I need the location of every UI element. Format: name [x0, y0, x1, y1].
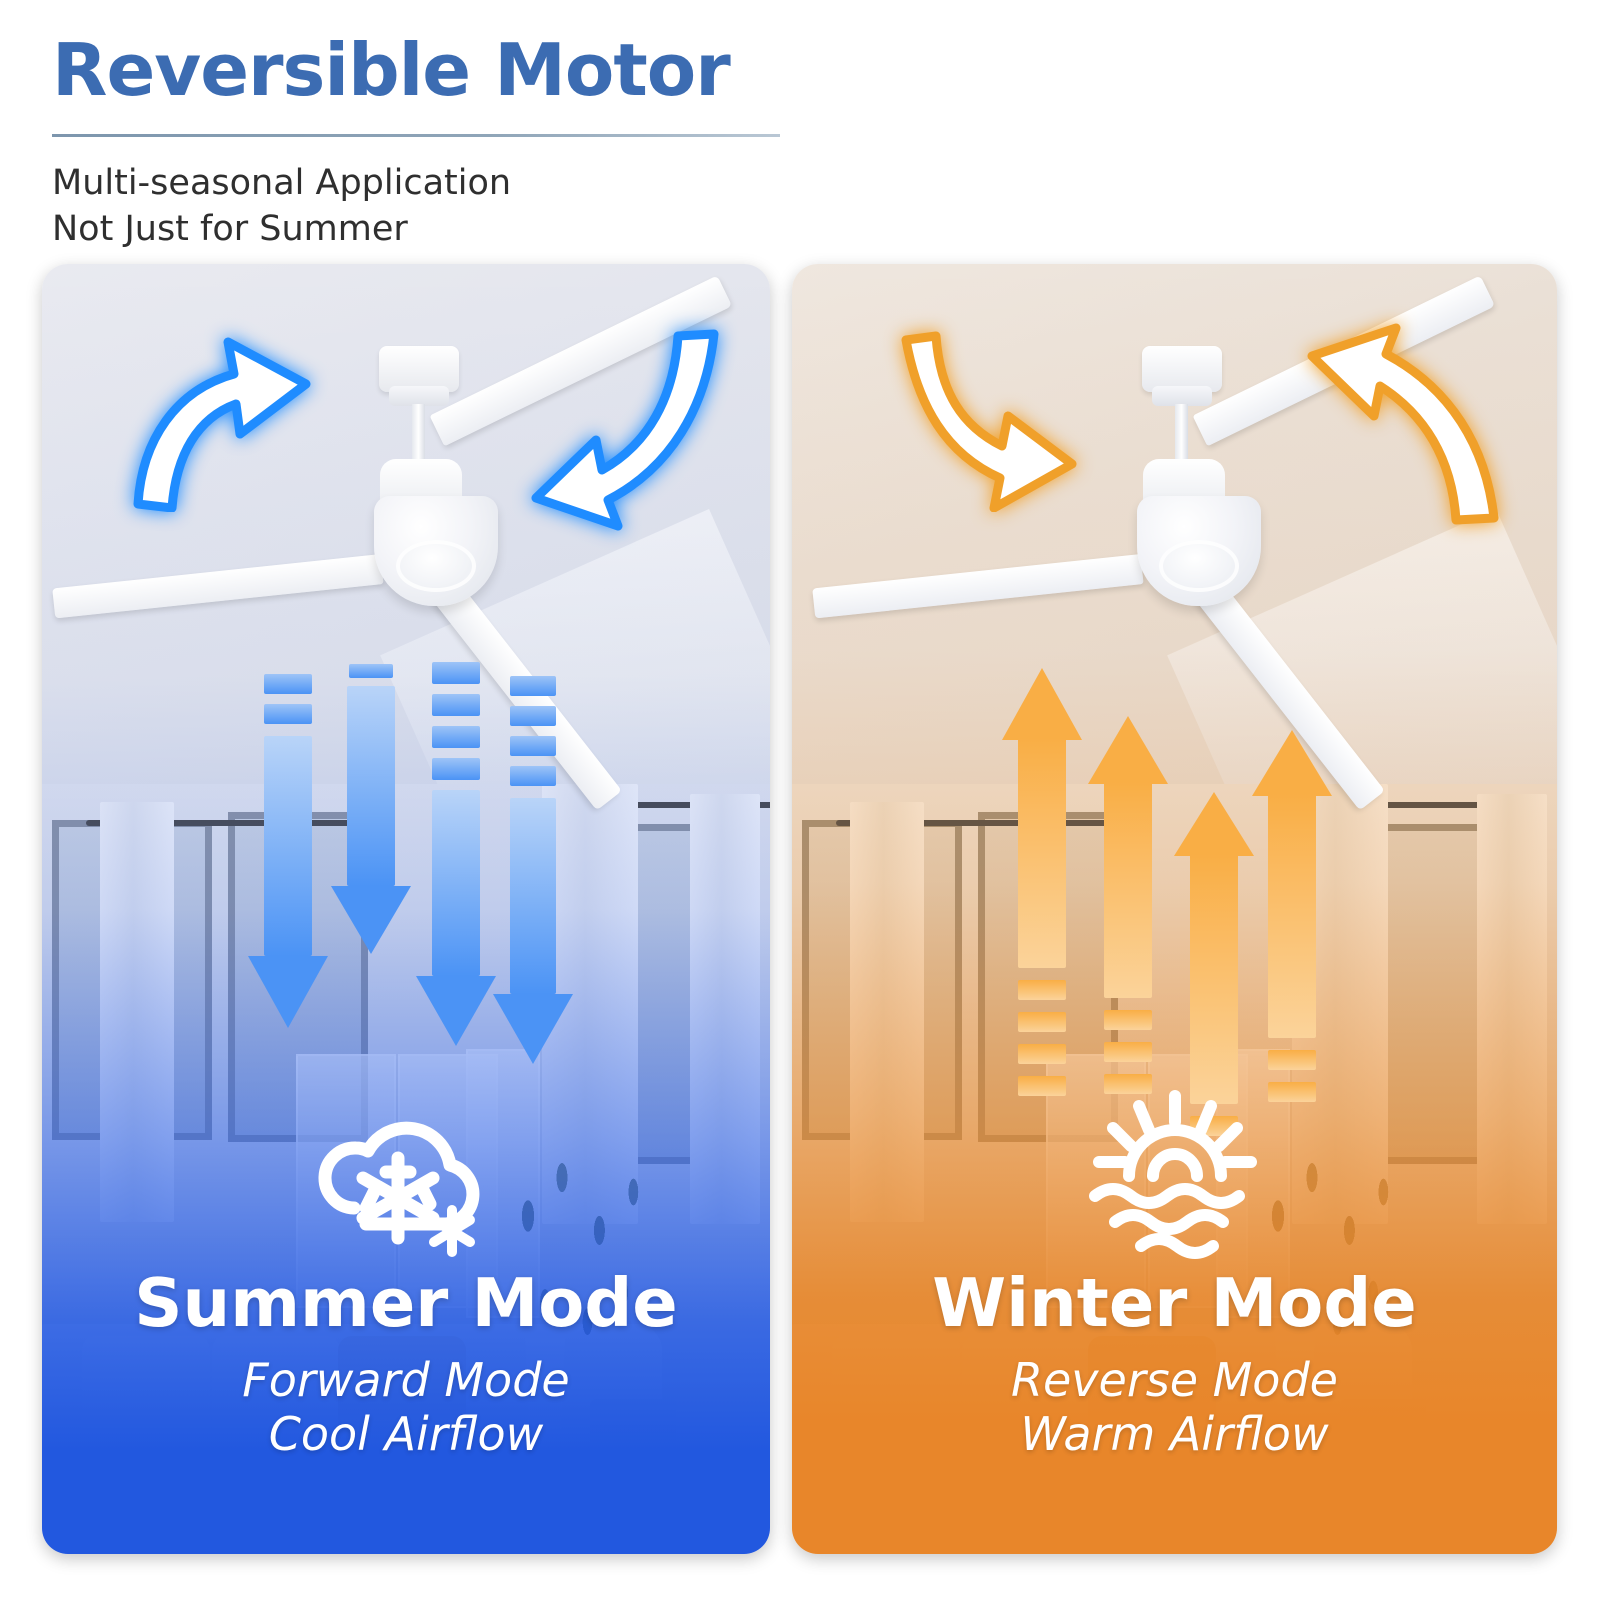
summer-labels: Summer Mode Forward Mode Cool Airflow: [42, 1269, 770, 1461]
summer-sub-line-2: Cool Airflow: [42, 1407, 770, 1461]
summer-mode-panel[interactable]: Summer Mode Forward Mode Cool Airflow: [42, 264, 770, 1554]
winter-labels: Winter Mode Reverse Mode Warm Airflow: [792, 1269, 1557, 1461]
winter-mode-title: Winter Mode: [792, 1269, 1557, 1339]
winter-sub-line-1: Reverse Mode: [792, 1353, 1557, 1407]
summer-mode-subtext: Forward Mode Cool Airflow: [42, 1353, 770, 1462]
subtitle-line-2: Not Just for Summer: [52, 206, 511, 252]
subtitle-line-1: Multi-seasonal Application: [52, 160, 511, 206]
winter-mode-subtext: Reverse Mode Warm Airflow: [792, 1353, 1557, 1462]
sunrise-icon: [1075, 1080, 1275, 1260]
winter-sub-line-2: Warm Airflow: [792, 1407, 1557, 1461]
title-divider: [52, 134, 780, 137]
page-subtitle: Multi-seasonal Application Not Just for …: [52, 160, 511, 252]
cloud-snow-icon: [306, 1080, 506, 1260]
page-title: Reversible Motor: [52, 34, 730, 106]
page-header: Reversible Motor Multi-seasonal Applicat…: [0, 0, 1598, 258]
summer-mode-title: Summer Mode: [42, 1269, 770, 1339]
summer-sub-line-1: Forward Mode: [42, 1353, 770, 1407]
winter-mode-panel[interactable]: Winter Mode Reverse Mode Warm Airflow: [792, 264, 1557, 1554]
